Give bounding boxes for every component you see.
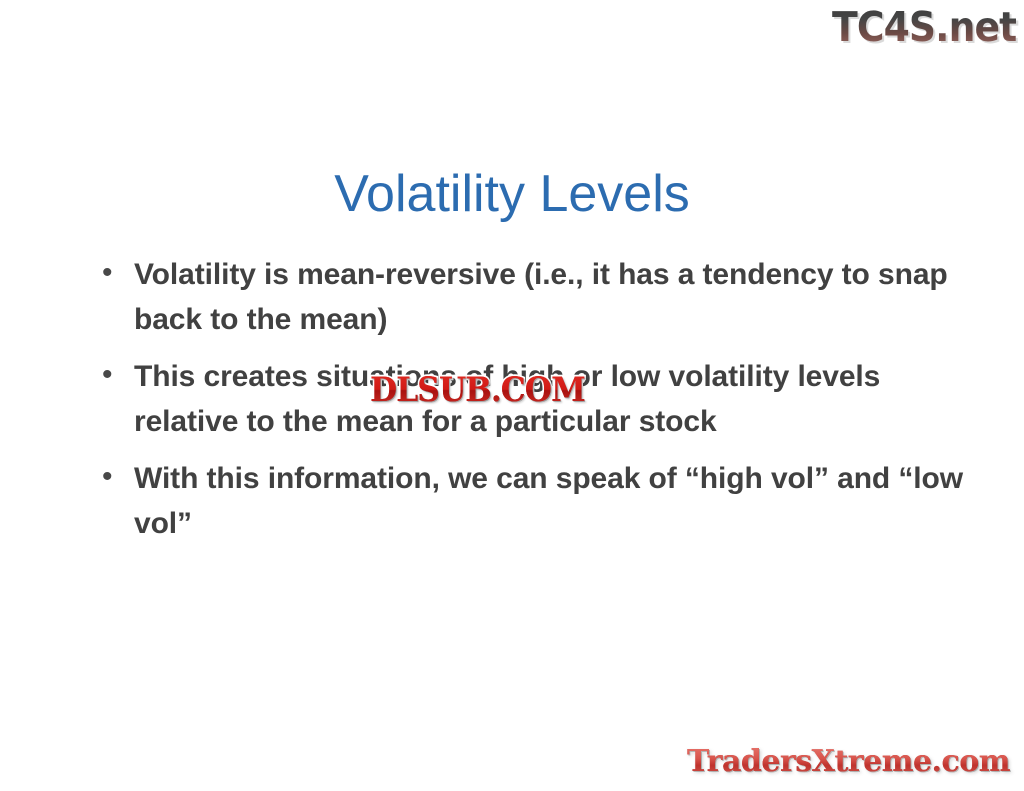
tradersxtreme-watermark: TradersXtreme.com [687,745,1010,779]
tc4s-logo: TC4S.net [832,2,1016,52]
slide-canvas: TC4S.net TC4S.net Volatility Levels • Vo… [0,0,1024,791]
bullet-item-text: With this information, we can speak of “… [134,456,968,546]
slide-title: Volatility Levels [0,163,1024,225]
bullet-item-3: • With this information, we can speak of… [96,456,968,546]
bullet-point-icon: • [96,354,134,396]
bullet-point-icon: • [96,252,134,294]
bullet-item-1: • Volatility is mean-reversive (i.e., it… [96,252,968,342]
dlsub-watermark: DLSUB.COM [370,373,585,407]
bullet-item-text: Volatility is mean-reversive (i.e., it h… [134,252,968,342]
bullet-point-icon: • [96,456,134,498]
